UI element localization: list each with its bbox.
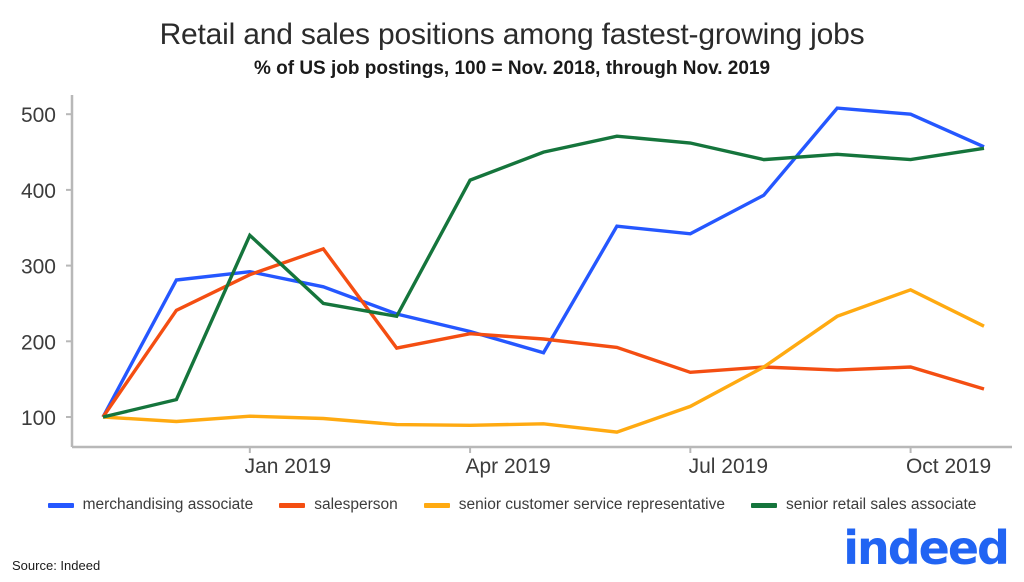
source-note: Source: Indeed: [12, 558, 100, 573]
legend-item-senior-customer-service-representative[interactable]: senior customer service representative: [424, 496, 725, 514]
indeed-wordmark: indeed: [828, 522, 1008, 574]
legend-item-senior-retail-sales-associate[interactable]: senior retail sales associate: [751, 496, 976, 514]
legend-swatch-icon: [424, 503, 450, 508]
legend-label: salesperson: [314, 496, 398, 514]
legend-swatch-icon: [751, 503, 777, 508]
series-lines: [103, 108, 984, 432]
y-axis-tick-label: 100: [21, 407, 56, 430]
x-axis-tick-label: Jan 2019: [245, 455, 331, 478]
y-axis-tick-label: 200: [21, 331, 56, 354]
legend-swatch-icon: [279, 503, 305, 508]
legend-label: senior retail sales associate: [786, 496, 976, 514]
x-axis-tick-label: Apr 2019: [465, 455, 550, 478]
indeed-logo: indeed: [828, 522, 1008, 574]
chart-legend: merchandising associatesalespersonsenior…: [0, 496, 1024, 514]
x-axis-tick-label: Jul 2019: [689, 455, 768, 478]
legend-swatch-icon: [48, 503, 74, 508]
x-axis-ticks: Jan 2019Apr 2019Jul 2019Oct 2019: [245, 447, 992, 478]
chart-figure: Retail and sales positions among fastest…: [0, 0, 1024, 582]
series-line-senior-customer-service-representative: [103, 290, 984, 432]
legend-item-merchandising-associate[interactable]: merchandising associate: [48, 496, 254, 514]
plot-area: 100200300400500 Jan 2019Apr 2019Jul 2019…: [0, 0, 1024, 496]
y-axis-ticks: 100200300400500: [21, 104, 72, 430]
x-axis-tick-label: Oct 2019: [906, 455, 991, 478]
legend-label: senior customer service representative: [459, 496, 725, 514]
y-axis-tick-label: 300: [21, 256, 56, 279]
legend-item-salesperson[interactable]: salesperson: [279, 496, 398, 514]
y-axis-tick-label: 500: [21, 104, 56, 127]
y-axis-tick-label: 400: [21, 180, 56, 203]
legend-label: merchandising associate: [83, 496, 254, 514]
series-line-senior-retail-sales-associate: [103, 136, 984, 417]
